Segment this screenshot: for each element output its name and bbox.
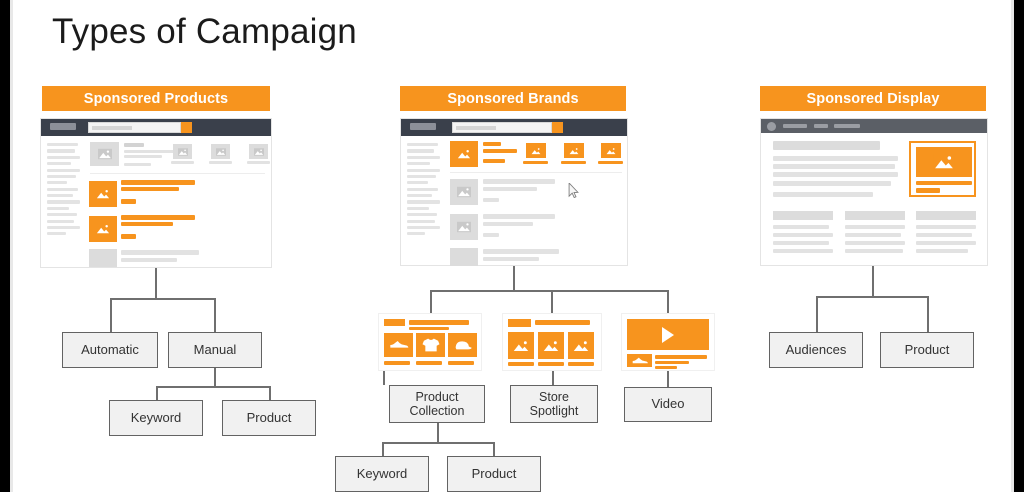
- image-icon: [606, 147, 617, 155]
- connector-line: [667, 290, 669, 313]
- video-play-icon: [621, 313, 715, 371]
- node-video[interactable]: Video: [624, 387, 712, 422]
- image-icon: [542, 339, 560, 352]
- node-label: Keyword: [131, 411, 182, 426]
- brand-ad-hero-image: [450, 141, 478, 167]
- connector-line: [155, 268, 157, 299]
- image-icon: [98, 149, 112, 160]
- product-image-placeholder: [90, 142, 119, 166]
- product-collection-icon: [378, 313, 482, 371]
- connector-line: [430, 290, 432, 313]
- connector-line: [110, 298, 112, 333]
- product-title-placeholder: [773, 141, 880, 150]
- connector-line: [382, 442, 494, 444]
- image-icon: [572, 339, 590, 352]
- connector-line: [667, 371, 669, 387]
- connector-line: [927, 296, 929, 332]
- account-avatar-icon: [767, 122, 776, 131]
- sponsored-product-image: [89, 216, 117, 242]
- slide-canvas: Types of Campaign Sponsored Products Spo…: [0, 0, 1024, 492]
- header-sponsored-products: Sponsored Products: [42, 86, 270, 111]
- node-keyword[interactable]: Keyword: [335, 456, 429, 492]
- store-spotlight-icon: [502, 313, 602, 371]
- shoe-icon: [389, 339, 409, 351]
- image-icon: [96, 224, 111, 235]
- letterbox-right: [1014, 0, 1024, 492]
- header-sponsored-brands: Sponsored Brands: [400, 86, 626, 111]
- node-automatic[interactable]: Automatic: [62, 332, 158, 368]
- node-keyword[interactable]: Keyword: [109, 400, 203, 436]
- connector-line: [551, 290, 553, 313]
- page-title: Types of Campaign: [52, 12, 357, 52]
- play-triangle-icon: [660, 326, 676, 344]
- image-icon: [569, 147, 580, 155]
- image-icon: [531, 147, 542, 155]
- connector-line: [816, 296, 928, 298]
- image-icon: [512, 339, 530, 352]
- header-label: Sponsored Display: [806, 91, 939, 107]
- tshirt-icon: [422, 338, 439, 353]
- node-product-collection[interactable]: ProductCollection: [389, 385, 485, 423]
- brand-ad-product: [601, 143, 621, 158]
- connector-line: [513, 266, 515, 291]
- slide-edge-right: [1011, 0, 1014, 492]
- sponsored-product-image: [89, 181, 117, 207]
- image-icon: [254, 148, 264, 156]
- node-label: Audiences: [786, 343, 847, 358]
- connector-line: [269, 386, 271, 401]
- connector-line: [383, 371, 385, 385]
- node-label: Video: [651, 397, 684, 412]
- mouse-pointer-icon: [568, 183, 579, 198]
- slide-edge-left: [10, 0, 13, 492]
- image-icon: [933, 154, 955, 170]
- mockup-navbar: [761, 119, 987, 133]
- header-label: Sponsored Brands: [447, 91, 578, 107]
- search-input[interactable]: [88, 122, 181, 133]
- image-icon: [216, 148, 226, 156]
- connector-line: [872, 266, 874, 297]
- connector-line: [493, 442, 495, 457]
- mockup-navbar: [401, 119, 627, 136]
- search-icon[interactable]: [181, 122, 192, 133]
- node-label: Product: [247, 411, 292, 426]
- connector-line: [156, 386, 270, 388]
- shoe-icon: [631, 356, 648, 365]
- connector-line: [816, 296, 818, 332]
- connector-line: [214, 368, 216, 387]
- connector-line: [110, 298, 215, 300]
- connector-line: [214, 298, 216, 333]
- node-label: ProductCollection: [410, 390, 465, 418]
- letterbox-left: [0, 0, 10, 492]
- node-product[interactable]: Product: [880, 332, 974, 368]
- node-label: Automatic: [81, 343, 139, 358]
- node-label: StoreSpotlight: [530, 390, 579, 418]
- cap-icon: [453, 339, 472, 351]
- node-store-spotlight[interactable]: StoreSpotlight: [510, 385, 598, 423]
- filter-rail: [407, 143, 440, 239]
- amazon-logo-icon: [410, 123, 436, 130]
- node-manual[interactable]: Manual: [168, 332, 262, 368]
- connector-line: [437, 423, 439, 443]
- filter-rail: [47, 143, 80, 239]
- node-label: Product: [472, 467, 517, 482]
- display-ad-unit: [909, 141, 976, 197]
- sponsored-display-mockup: [760, 118, 988, 266]
- connector-line: [430, 290, 668, 292]
- image-icon: [178, 148, 188, 156]
- node-product[interactable]: Product: [222, 400, 316, 436]
- connector-line: [382, 442, 384, 457]
- node-product[interactable]: Product: [447, 456, 541, 492]
- brand-ad-product: [526, 143, 546, 158]
- connector-line: [156, 386, 158, 401]
- node-label: Manual: [194, 343, 237, 358]
- image-icon: [96, 189, 111, 200]
- image-icon: [457, 149, 472, 160]
- header-label: Sponsored Products: [84, 91, 228, 107]
- header-sponsored-display: Sponsored Display: [760, 86, 986, 111]
- node-audiences[interactable]: Audiences: [769, 332, 863, 368]
- mockup-navbar: [41, 119, 271, 136]
- node-label: Product: [905, 343, 950, 358]
- image-icon: [457, 222, 471, 233]
- search-icon[interactable]: [552, 122, 563, 133]
- image-icon: [457, 187, 471, 198]
- sponsored-products-mockup: [40, 118, 272, 268]
- brand-ad-product: [564, 143, 584, 158]
- connector-line: [552, 371, 554, 385]
- node-label: Keyword: [357, 467, 408, 482]
- search-input[interactable]: [452, 122, 552, 133]
- amazon-logo-icon: [50, 123, 76, 130]
- sponsored-brands-mockup: [400, 118, 628, 266]
